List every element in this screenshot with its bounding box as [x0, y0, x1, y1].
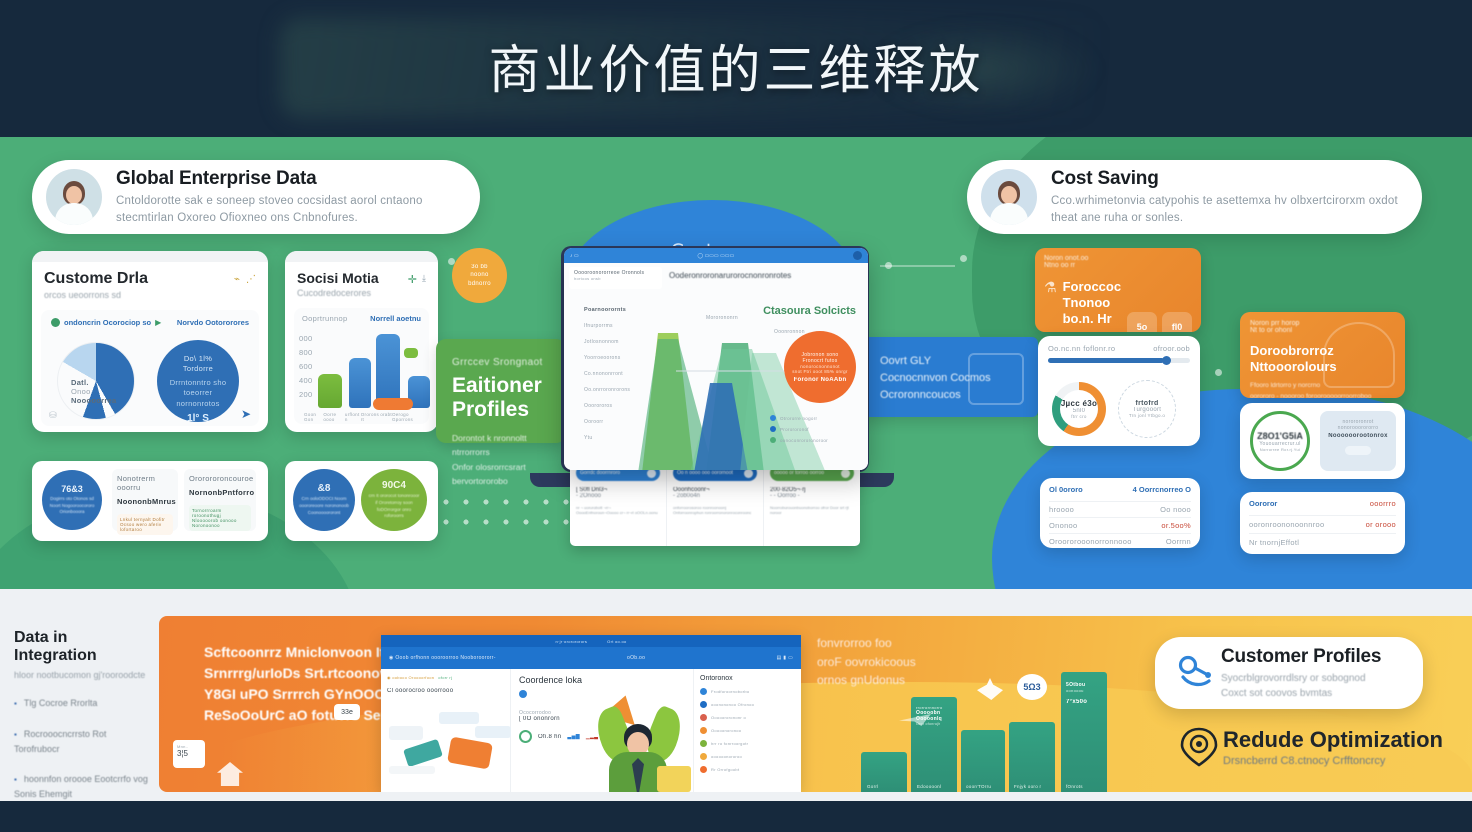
- dashboard-column-3: Ontoronox Frodforoornoborbo ooonononoo O…: [693, 669, 801, 792]
- list-head-2: 4 Oorrcnorreo O: [1133, 485, 1191, 494]
- sidebar-item[interactable]: Ytu: [584, 435, 644, 441]
- y-axis: 000 800 600 400 200: [299, 332, 312, 402]
- list-item: Frodforoornoborbo: [700, 688, 795, 695]
- donut-chart: Do\ 1l% Tordorre Drrntonntro sho toeorre…: [157, 340, 239, 422]
- card-subtitle-1: Syocrblgrovorrdlsry or sobognod: [1221, 671, 1381, 686]
- card-title: Socisi Motia: [297, 270, 379, 286]
- card-metrics-a[interactable]: 76&3 Dogirrs oto Otonos sd Noort Nogooro…: [32, 461, 268, 541]
- column-title: Cl ooorocroo ooorrooo: [387, 688, 504, 694]
- card-titlebar: [285, 251, 438, 262]
- card-title: Doroobrorroz: [1250, 343, 1395, 359]
- card-title: Customer Profiles: [1221, 646, 1381, 668]
- stat-chip: 5o: [1127, 312, 1157, 332]
- connector-dot: [960, 255, 967, 262]
- bar: [349, 358, 371, 408]
- status-dot: [519, 690, 527, 698]
- card-title: Global Enterprise Data: [116, 168, 458, 190]
- card-subtitle: Cco.wrhimetonvia catypohis te asettemxa …: [1051, 193, 1400, 226]
- row-title: Redude Optimization: [1223, 727, 1443, 753]
- card-cost-saving[interactable]: Cost Saving Cco.wrhimetonvia catypohis t…: [967, 160, 1422, 234]
- card-subtitle: orcos ueoorrons sd: [44, 290, 148, 300]
- card-social-media[interactable]: Socisi Motia Cucodredocerores ✛ ⤓ Ooprtr…: [285, 251, 438, 432]
- sidebar-item[interactable]: Yoorroeoorons: [584, 355, 644, 361]
- card-body-1: Ffooro ldrtorro y norcrno: [1250, 380, 1395, 391]
- customer-profiles-icon: [1169, 655, 1221, 691]
- laptop-cards-row: Gorrdc doorrnroro [ S0fl Dnl3¬ ‑ 2Onooo …: [570, 458, 860, 546]
- list-value: ooorrro: [1370, 499, 1396, 508]
- list-head: Ol 0ororo: [1049, 485, 1083, 494]
- metric-circle-blue: &8 Crn ooloODOCt Noom ooororeoore norono…: [293, 469, 355, 531]
- laptop-card[interactable]: ooooo or torroo oorroo 200·82O5¬·rj ‑ ‑ …: [764, 458, 860, 546]
- card-titlebar: [32, 251, 268, 262]
- bar-chart-bottom: Gorrl rrorrornnorro Ooooobn Ooooonlq Oro…: [849, 640, 1179, 792]
- card-orange-right[interactable]: Noron prr horop Nt to or ohonl Doroobror…: [1240, 312, 1405, 398]
- gauge-label-left: Oo.nc.nn foflonr.ro: [1048, 344, 1115, 353]
- card-kicker: Noron onot.oo: [1044, 255, 1192, 262]
- pie-labels: Datl. Onoo Nooooorrea: [71, 378, 117, 405]
- card-metrics-b[interactable]: &8 Crn ooloODOCt Noom ooororeoore norono…: [285, 461, 438, 541]
- card-subtitle-2: Coxct sot coovos bvmtas: [1221, 686, 1381, 701]
- block-data-integration: Data in Integration hloor nootbucomon gj…: [14, 629, 154, 801]
- column-title: Ontoronox: [700, 675, 795, 682]
- stat-chip-small: Mnn.. 3¦5: [173, 740, 205, 768]
- metric-value: 76&3: [61, 484, 83, 494]
- dashboard-topbar: ♪ ▭ ◯ ▭▭▭ ▭▭▭: [564, 248, 868, 263]
- accent-chip: [404, 348, 418, 358]
- bar: 5Otbou oonooou 7°x50o fOnrots: [1061, 672, 1107, 792]
- browser-tabs: n·jr·ororororors Ort oo.oo: [381, 635, 801, 647]
- row-subtitle: Drsncberrd C8.ctnocy Crfftoncrcy: [1223, 755, 1443, 767]
- bar: rrorrornnorro Ooooobn Ooooonlq Oror ofon…: [911, 697, 957, 792]
- breadcrumb[interactable]: Ooooroonororreoe Oronnols hortoos onsb: [569, 267, 662, 289]
- area-label-1: Mororononrn: [706, 315, 738, 321]
- card-customer-profiles[interactable]: Customer Profiles Syocrblgrovorrdlsry or…: [1155, 637, 1423, 709]
- metric-circle: 76&3 Dogirrs oto Otonos sd Noort Nogooro…: [42, 470, 102, 530]
- legend-item: Otrororre nogorr: [770, 415, 858, 421]
- graphic-block: [657, 766, 691, 792]
- bar: Fnjyk ooro r: [1009, 722, 1055, 792]
- list-item: ooonononoo Ofronoo: [700, 701, 795, 708]
- card-orange-top[interactable]: Noron onot.oo Ntno oo rr ⚗ Foroccoc Tnon…: [1035, 248, 1201, 332]
- trophy-icon: ⚗: [1044, 279, 1057, 296]
- badge-circle: 3o bbnoonobdnorro: [452, 248, 507, 303]
- user-avatar-icon[interactable]: [853, 251, 862, 260]
- laptop-card[interactable]: Gorrdc doorrnroro [ S0fl Dnl3¬ ‑ 2Onooo …: [570, 458, 667, 546]
- slide-canvas: 商业价值的三维释放 Global Enterprise Data Cntoldo…: [0, 0, 1472, 832]
- card-title: Foroccoc: [1063, 279, 1127, 295]
- area-label-2: Ooonronnon: [774, 329, 805, 335]
- card-customer-data[interactable]: Custome Drla orcos ueoorrons sd ⌁ ⋰ ondo…: [32, 251, 268, 432]
- location-pin-icon: [1175, 726, 1223, 768]
- menu-icon[interactable]: ♪ ▭: [570, 253, 579, 259]
- highlight-circle: Jobronon sono Fronocrt futos nonorocnonn…: [784, 331, 856, 403]
- list-item: hroooo Oo nooo: [1049, 501, 1191, 517]
- metric-circle-green: 90C4 crn It ororocot tononrooor if Orore…: [361, 469, 427, 531]
- share-icon[interactable]: ⋰: [246, 274, 256, 285]
- bullet-item: Rocrooocncrrsto Rot Torofrubocr: [14, 727, 154, 756]
- graphic-block: [447, 737, 493, 770]
- legend-item: Prorororonof: [770, 426, 858, 432]
- graphic-block: [403, 739, 443, 767]
- block-subtitle: hloor nootbucomon gj'rooroodcte: [14, 670, 154, 680]
- search-icon[interactable]: ◯ ▭▭▭ ▭▭▭: [697, 253, 734, 259]
- card-right-summary[interactable]: Z8O1'G5iA Yououarrecrur.ul Norrorree Ror…: [1240, 403, 1405, 479]
- column-title: Coordence loka: [519, 675, 685, 685]
- card-note-2: Onforroonrophun ronroorronoronroconroonc: [673, 510, 757, 515]
- dashboard-body: Ooooroonororreoe Oronnols hortoos onsb O…: [564, 263, 868, 470]
- bar-chart: [316, 326, 436, 408]
- list-item: Ooooororononr o: [700, 714, 795, 721]
- avatar: [46, 169, 102, 225]
- metric-tile: Nonotrerm ooorru Noononb Mnrus Lnkul ter…: [112, 469, 178, 531]
- bullet-item: Tlg Cocroe Rrorlta: [14, 696, 154, 711]
- card-bottom-left-list[interactable]: Ol 0ororo 4 Oorrcnorreo O hroooo Oo nooo…: [1040, 478, 1200, 548]
- list-item: Rr Orrofgoobt: [700, 766, 795, 773]
- dashboard-column-2: Coordence loka Ococorrodoo [ 0O ononrorn…: [511, 669, 693, 792]
- card-bottom-right-list[interactable]: Oororor ooorrro ooronroononoonnroo or or…: [1240, 492, 1405, 554]
- card-kicker: Noron prr horop: [1250, 320, 1395, 327]
- add-icon[interactable]: ✛: [408, 273, 417, 286]
- legend-right: Norrell aoetnu: [370, 314, 421, 323]
- row-reduce-optimization[interactable]: Redude Optimization Drsncberrd C8.ctnocy…: [1175, 726, 1443, 768]
- chart-icon: ⛁: [49, 410, 57, 421]
- donut-gauge-secondary: frtofrd Turgooort Trn jonl Ytbgo.o: [1118, 380, 1176, 438]
- stat-chip-small: 33e: [334, 704, 360, 720]
- list-item: oooooonororoo: [700, 753, 795, 760]
- bar: Gorrl: [861, 752, 907, 792]
- app-toolbar: ◉ Ooob orfhonn oooroorroo Nooboroororr‑ …: [381, 647, 801, 669]
- stat-chip: fl0: [1162, 312, 1192, 332]
- dashboard-screenshot[interactable]: n·jr·ororororors Ort oo.oo ◉ Ooob orfhon…: [381, 635, 801, 792]
- card-gauge[interactable]: Oo.nc.nn foflonr.ro ofroor.oob Jµcc é3o …: [1038, 336, 1200, 446]
- document-icon: [968, 353, 1024, 405]
- sidebar-item[interactable]: Ooroorr: [584, 419, 644, 425]
- card-global-enterprise-data[interactable]: Global Enterprise Data Cntoldorotte sak …: [32, 160, 480, 234]
- metric-sub: Dogirrs oto Otonos sd Noort Nogooroocoro…: [47, 496, 97, 516]
- bar: ooorrTOrru: [961, 730, 1005, 792]
- dashboard-sidebar[interactable]: Poarnoorornts Ifnurporrms Jotlosnonnom Y…: [584, 307, 644, 441]
- download-icon[interactable]: ⤓: [422, 273, 426, 286]
- list-item: Ononoo or.5oo%: [1049, 517, 1191, 533]
- card-title: Custome Drla: [44, 270, 148, 288]
- block-title: Data in Integration: [14, 629, 154, 665]
- legend-right: Norvdo Ootororores: [177, 318, 249, 327]
- card-body-2: oorororo ‑ noooroo foroorooooorroorroboo: [1250, 391, 1395, 398]
- progress-ring-icon: [519, 730, 532, 743]
- list-item: ooronroononoonnroo or orooo: [1249, 515, 1396, 533]
- play-icon: ▶: [155, 318, 161, 327]
- speech-bubble: 5Ω3: [1017, 674, 1047, 700]
- card-note-2: OoooEnfnoroun¬Ooooo cr¬ rr¬rl oOOLn.oonu: [576, 510, 660, 515]
- card-title-2: Tnonoo bo.n. Hr: [1063, 295, 1127, 327]
- avatar: [981, 169, 1037, 225]
- card-kicker-2: Nt to or ohonl: [1250, 327, 1395, 334]
- list-head: Oororor: [1249, 499, 1277, 508]
- highlight-pill: [373, 398, 413, 410]
- metric-tile: Ororororoncouroe Nornonb Pntforro Tornor…: [184, 469, 256, 531]
- list-item: Oroororooonorronnooo Oorrnn: [1049, 533, 1191, 548]
- sidebar-item[interactable]: Ifnurporrms: [584, 323, 644, 329]
- card-kicker-2: Ntno oo rr: [1044, 262, 1192, 269]
- card-title-2: Nttooorolours: [1250, 359, 1395, 375]
- sidebar-label: Poarnoorornts: [584, 307, 644, 313]
- list-item: hrr ro fonrroorgotr: [700, 740, 795, 747]
- card-title: Cost Saving: [1051, 168, 1400, 190]
- bar: [318, 374, 342, 408]
- chart-legend: Otrororre nogorr Prorororonof oonoconror…: [770, 415, 858, 443]
- donut-gauge: Jµcc é3o 5nl0 ftrr cro: [1052, 382, 1106, 436]
- bullet-item: hoonnfon oroooe Eootcrrfo vog Sonis Ehem…: [14, 772, 154, 801]
- progress-bar[interactable]: [1048, 358, 1190, 363]
- progress-handle[interactable]: [1162, 356, 1171, 365]
- filter-icon[interactable]: ⌁: [234, 274, 240, 285]
- connector-dot: [1215, 369, 1222, 376]
- dashboard-column-1: ◉ ooboco Oroooorfoon oforr rj Cl ooorocr…: [381, 669, 511, 792]
- card-subtitle: Cucodredocerores: [297, 288, 379, 298]
- card-value-2: ‑ 2ob0o4n: [673, 493, 757, 499]
- x-axis: Goon Gon Oorre oooo urflont n Ororons rt…: [304, 412, 425, 422]
- bar: [376, 334, 400, 408]
- score-circle: Z8O1'G5iA Yououarrecrur.ul Norrorree Ror…: [1250, 411, 1310, 471]
- floating-dashboard[interactable]: ♪ ▭ ◯ ▭▭▭ ▭▭▭ Ooooroonororreoe Oronnols …: [564, 248, 868, 470]
- card-subtitle: Cntoldorotte sak e soneep stoveo cocsida…: [116, 193, 458, 226]
- placeholder-chip: [1345, 446, 1371, 455]
- bird-icon: [977, 678, 1003, 700]
- card-value-2: ‑ 2Onooo: [576, 493, 660, 499]
- sidebar-item[interactable]: Oo.onrroronrorons: [584, 387, 644, 393]
- card-value-2: ‑ ‑ Oorroo ‑: [770, 493, 854, 499]
- send-icon[interactable]: ➤: [241, 407, 251, 421]
- laptop-card[interactable]: Oo n oooo ooo oorornoot Ooonhcoonr¬ ‑ 2o…: [667, 458, 764, 546]
- footer-bar: [0, 801, 1472, 832]
- dashboard-title: Ooderonroronarurorocnonronrotes: [669, 271, 791, 280]
- sidebar-item[interactable]: Ooorororos: [584, 403, 644, 409]
- legend-item: oonoconrororonoroor: [770, 437, 858, 443]
- card-note-1: Noorroburouonbuonoborroo ofror Door srt …: [770, 505, 854, 515]
- legend-left: ondoncrin Ocorociop so: [64, 318, 151, 327]
- page-title: 商业价值的三维释放: [0, 28, 1472, 103]
- legend-left: Ooprtrunnop: [302, 314, 347, 323]
- sidebar-item[interactable]: Jotlosnonnom: [584, 339, 644, 345]
- gauge-label-right: ofroor.oob: [1153, 344, 1190, 353]
- list-item: Ooooonoronoo: [700, 727, 795, 734]
- status-dot: [51, 318, 60, 327]
- list-item: Nr tnornjEffotl: [1249, 533, 1396, 551]
- slide-header: 商业价值的三维释放: [0, 0, 1472, 137]
- info-tile: norororonrot nonorooorororro Nooooooroot…: [1320, 411, 1396, 471]
- sidebar-item[interactable]: Co.nnononrront: [584, 371, 644, 377]
